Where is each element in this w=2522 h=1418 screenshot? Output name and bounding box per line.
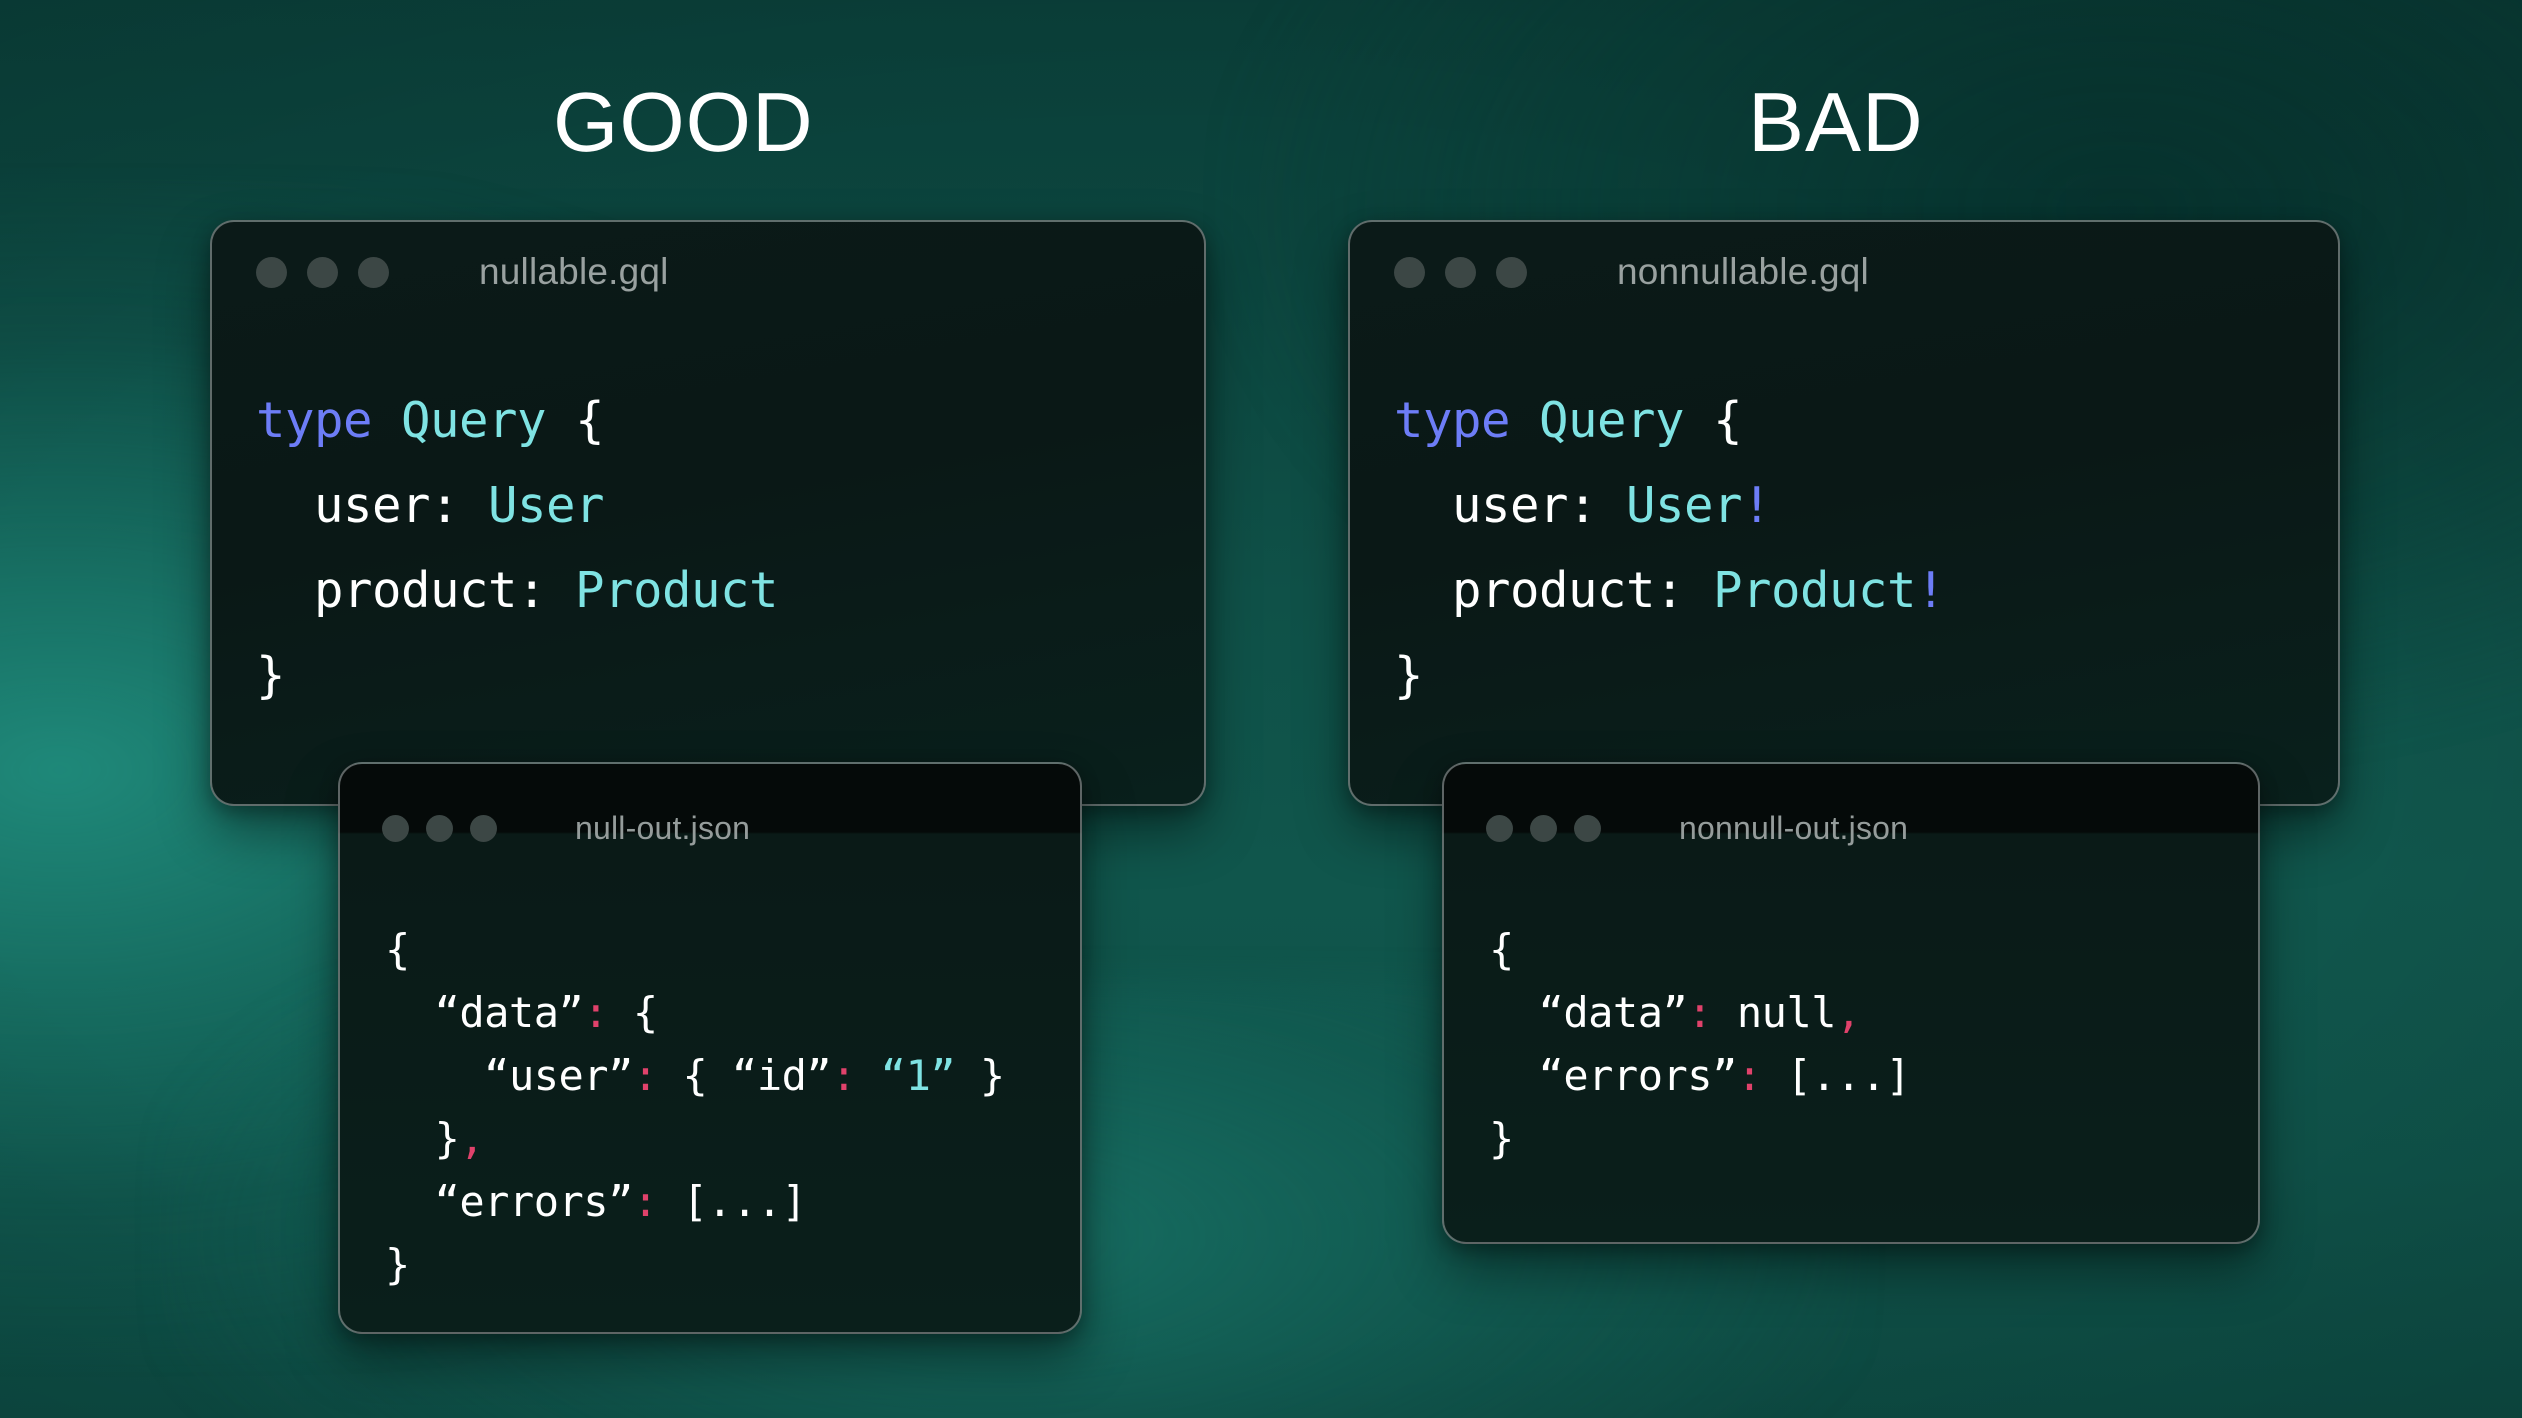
token-type: User	[1626, 477, 1742, 534]
titlebar-bad-output: nonnull-out.json	[1444, 786, 2258, 870]
token-field-name: user:	[1394, 477, 1626, 534]
code-line: }	[385, 1233, 1080, 1296]
token-json-key: “errors”	[1539, 1051, 1737, 1100]
token-keyword: type	[1394, 392, 1510, 449]
token-json-punctuation	[385, 1177, 435, 1226]
token-json-key: “user”	[484, 1051, 633, 1100]
token-field-name: user:	[256, 477, 488, 534]
token-punctuation: {	[575, 392, 604, 449]
section-title-good: GOOD	[553, 80, 814, 164]
token-space	[1510, 392, 1539, 449]
maximize-dot-icon[interactable]	[1574, 815, 1601, 842]
token-json-punctuation	[1489, 988, 1539, 1037]
window-bad-output[interactable]: nonnull-out.json { “data”: null, “errors…	[1442, 762, 2260, 1244]
token-type: Query	[1539, 392, 1684, 449]
code-line: “errors”: [...]	[1489, 1044, 2258, 1107]
maximize-dot-icon[interactable]	[470, 815, 497, 842]
token-json-punctuation: {	[1489, 925, 1514, 974]
titlebar-bad-schema: nonnullable.gql	[1350, 222, 2338, 322]
token-json-colon: :	[633, 1051, 658, 1100]
close-dot-icon[interactable]	[1486, 815, 1513, 842]
code-line: }	[1394, 633, 2338, 718]
token-json-key: “errors”	[435, 1177, 633, 1226]
maximize-dot-icon[interactable]	[358, 257, 389, 288]
close-dot-icon[interactable]	[382, 815, 409, 842]
token-json-punctuation	[385, 1051, 484, 1100]
minimize-dot-icon[interactable]	[1445, 257, 1476, 288]
code-body-bad-schema[interactable]: type Query { user: User! product: Produc…	[1350, 378, 2338, 718]
token-json-colon: :	[583, 988, 608, 1037]
token-field-name: product:	[1394, 562, 1713, 619]
token-json-punctuation	[856, 1051, 881, 1100]
code-body-bad-output[interactable]: { “data”: null, “errors”: [...]}	[1444, 918, 2258, 1170]
code-line: product: Product	[256, 548, 1204, 633]
token-punctuation: }	[256, 647, 285, 704]
token-json-punctuation: }	[385, 1240, 410, 1289]
window-bad-schema[interactable]: nonnullable.gql type Query { user: User!…	[1348, 220, 2340, 806]
token-json-punctuation: }	[955, 1051, 1005, 1100]
token-json-punctuation: {	[658, 1051, 732, 1100]
minimize-dot-icon[interactable]	[426, 815, 453, 842]
maximize-dot-icon[interactable]	[1496, 257, 1527, 288]
code-line: “errors”: [...]	[385, 1170, 1080, 1233]
code-line: type Query {	[256, 378, 1204, 463]
token-nonnull-bang: !	[1742, 477, 1771, 534]
token-nonnull-bang: !	[1916, 562, 1945, 619]
screenshot-canvas: GOOD BAD nullable.gql type Query { user:…	[0, 0, 2522, 1418]
token-type: Query	[401, 392, 546, 449]
filename-label-good-output: null-out.json	[575, 810, 750, 847]
token-json-punctuation: null	[1712, 988, 1836, 1037]
code-line: “data”: null,	[1489, 981, 2258, 1044]
close-dot-icon[interactable]	[256, 257, 287, 288]
token-punctuation: {	[1713, 392, 1742, 449]
code-body-good-schema[interactable]: type Query { user: User product: Product…	[212, 378, 1204, 718]
token-json-colon: :	[831, 1051, 856, 1100]
window-good-schema[interactable]: nullable.gql type Query { user: User pro…	[210, 220, 1206, 806]
token-space	[372, 392, 401, 449]
traffic-lights-bad-output	[1486, 815, 1601, 842]
code-line: }	[256, 633, 1204, 718]
section-title-bad: BAD	[1748, 80, 1924, 164]
token-type: Product	[575, 562, 778, 619]
traffic-lights-bad-schema	[1394, 257, 1527, 288]
token-json-punctuation: }	[1489, 1114, 1514, 1163]
code-line: user: User	[256, 463, 1204, 548]
token-keyword: type	[256, 392, 372, 449]
minimize-dot-icon[interactable]	[1530, 815, 1557, 842]
code-line: product: Product!	[1394, 548, 2338, 633]
token-type: User	[488, 477, 604, 534]
titlebar-good-schema: nullable.gql	[212, 222, 1204, 322]
traffic-lights-good-schema	[256, 257, 389, 288]
close-dot-icon[interactable]	[1394, 257, 1425, 288]
minimize-dot-icon[interactable]	[307, 257, 338, 288]
token-json-colon: :	[1687, 988, 1712, 1037]
code-line: {	[385, 918, 1080, 981]
code-line: },	[385, 1107, 1080, 1170]
token-json-punctuation: {	[385, 925, 410, 974]
filename-label-bad-output: nonnull-out.json	[1679, 810, 1908, 847]
token-json-comma: ,	[459, 1114, 484, 1163]
token-json-punctuation: {	[608, 988, 658, 1037]
token-json-key: “data”	[435, 988, 584, 1037]
token-json-punctuation	[385, 988, 435, 1037]
token-json-string: “1”	[881, 1051, 955, 1100]
token-json-key: “id”	[732, 1051, 831, 1100]
titlebar-good-output: null-out.json	[340, 786, 1080, 870]
token-json-punctuation	[1489, 1051, 1539, 1100]
token-field-name: product:	[256, 562, 575, 619]
traffic-lights-good-output	[382, 815, 497, 842]
token-json-key: “data”	[1539, 988, 1688, 1037]
code-line: user: User!	[1394, 463, 2338, 548]
code-body-good-output[interactable]: { “data”: { “user”: { “id”: “1” } }, “er…	[340, 918, 1080, 1296]
token-punctuation: }	[1394, 647, 1423, 704]
token-json-colon: :	[1737, 1051, 1762, 1100]
token-type: Product	[1713, 562, 1916, 619]
code-line: }	[1489, 1107, 2258, 1170]
token-json-comma: ,	[1836, 988, 1861, 1037]
code-line: “user”: { “id”: “1” }	[385, 1044, 1080, 1107]
code-line: type Query {	[1394, 378, 2338, 463]
token-json-punctuation: [...]	[1762, 1051, 1911, 1100]
token-json-punctuation: [...]	[658, 1177, 807, 1226]
filename-label-bad-schema: nonnullable.gql	[1617, 251, 1869, 293]
code-line: “data”: {	[385, 981, 1080, 1044]
window-good-output[interactable]: null-out.json { “data”: { “user”: { “id”…	[338, 762, 1082, 1334]
filename-label-good-schema: nullable.gql	[479, 251, 669, 293]
token-json-punctuation: }	[385, 1114, 459, 1163]
code-line: {	[1489, 918, 2258, 981]
token-space	[1684, 392, 1713, 449]
token-space	[546, 392, 575, 449]
token-json-colon: :	[633, 1177, 658, 1226]
